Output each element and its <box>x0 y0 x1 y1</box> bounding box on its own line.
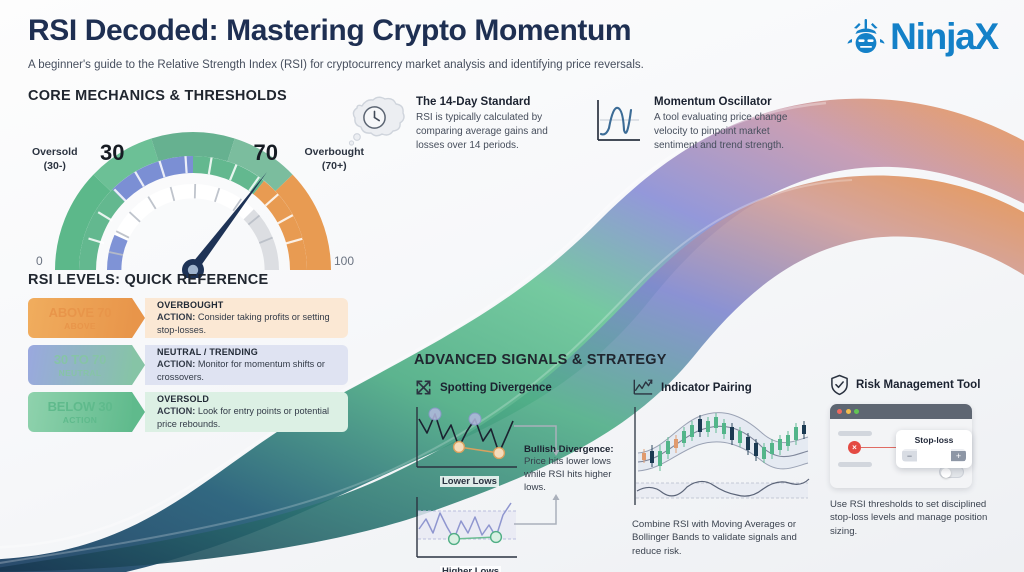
core-mechanics-section: CORE MECHANICS & THRESHOLDS <box>28 88 358 278</box>
error-circle-x-icon: × <box>848 441 861 454</box>
stop-loss-label: Stop-loss <box>902 435 966 445</box>
stop-loss-mockup: × Stop-loss − + <box>830 404 972 488</box>
indicator-pairing-title: Indicator Pairing <box>661 382 752 394</box>
page-title: RSI Decoded: Mastering Crypto Momentum <box>28 14 788 49</box>
bullish-divergence-callout: Bullish Divergence: Price hits lower low… <box>524 444 616 495</box>
lower-lows-chart <box>414 405 519 471</box>
rsi-levels-heading: RSI LEVELS: QUICK REFERENCE <box>28 272 348 288</box>
rsi-level-range: ABOVE 70 <box>49 305 112 320</box>
rsi-level-tag: ABOVE 70 ABOVE <box>28 298 132 338</box>
gauge-scale-min: 0 <box>36 254 43 268</box>
risk-management-column: Risk Management Tool × Stop-loss <box>830 374 1010 538</box>
infographic-canvas: RSI Decoded: Mastering Crypto Momentum A… <box>0 0 1024 572</box>
page-subtitle: A beginner's guide to the Relative Stren… <box>28 58 788 74</box>
higher-lows-label: Higher Lows <box>440 566 501 572</box>
thought-bubble-clock-icon <box>344 96 406 152</box>
rsi-levels-section: RSI LEVELS: QUICK REFERENCE ABOVE 70 ABO… <box>28 272 348 432</box>
rsi-level-body: OVERSOLD ACTION: Look for entry points o… <box>145 392 348 432</box>
oscillator-wave-chart-icon <box>592 96 644 148</box>
info-card-14-day: The 14-Day Standard RSI is typically cal… <box>344 96 576 154</box>
rsi-level-state: OVERBOUGHT <box>157 300 340 310</box>
rsi-level-tag: BELOW 30 ACTION <box>28 392 132 432</box>
rsi-level-action: ACTION: Look for entry points or potenti… <box>157 405 340 429</box>
callout-title: Bullish Divergence: <box>524 444 616 455</box>
info-card-body: RSI is typically calculated by comparing… <box>416 111 576 154</box>
ninja-helmet-icon <box>846 17 886 57</box>
gauge-right-value: 70 <box>254 140 278 166</box>
info-card-title: Momentum Oscillator <box>654 96 814 108</box>
rsi-level-state: NEUTRAL / TRENDING <box>157 347 340 357</box>
mock-toggle-knob <box>941 468 951 478</box>
rsi-level-state: OVERSOLD <box>157 394 340 404</box>
stepper-minus-button[interactable]: − <box>902 451 917 461</box>
expand-arrows-icon <box>414 378 433 397</box>
stop-loss-stepper[interactable]: − + <box>902 449 966 462</box>
line-chart-up-icon <box>632 378 654 397</box>
indicator-pairing-note: Combine RSI with Moving Averages or Boll… <box>632 518 818 558</box>
stepper-plus-button[interactable]: + <box>951 451 966 461</box>
shield-check-icon <box>830 374 849 396</box>
rsi-level-tag-sub: ACTION <box>63 415 97 425</box>
window-dot-maximize[interactable] <box>854 409 859 414</box>
core-mechanics-heading: CORE MECHANICS & THRESHOLDS <box>28 88 358 104</box>
rsi-level-range: BELOW 30 <box>48 399 113 414</box>
rsi-level-tag-sub: ABOVE <box>64 321 96 331</box>
risk-management-note: Use RSI thresholds to set disciplined st… <box>830 498 1010 538</box>
stepper-track[interactable] <box>917 449 951 462</box>
indicator-pairing-column: Indicator Pairing <box>632 378 818 558</box>
rsi-level-action: ACTION: Monitor for momentum shifts or c… <box>157 358 340 382</box>
candlestick-bollinger-chart <box>632 405 810 510</box>
mock-placeholder-bar <box>838 462 872 467</box>
mock-titlebar <box>830 404 972 419</box>
rsi-level-row[interactable]: ABOVE 70 ABOVE OVERBOUGHT ACTION: Consid… <box>28 298 348 338</box>
header: RSI Decoded: Mastering Crypto Momentum A… <box>28 14 788 73</box>
gauge-svg <box>28 118 358 278</box>
info-card-oscillator: Momentum Oscillator A tool evaluating pr… <box>592 96 814 154</box>
window-dot-minimize[interactable] <box>846 409 851 414</box>
rsi-level-range: 30 TO 70 <box>54 352 106 367</box>
mock-placeholder-bar <box>838 431 872 436</box>
info-card-title: The 14-Day Standard <box>416 96 576 108</box>
rsi-level-tag: 30 TO 70 NEUTRAL <box>28 345 132 385</box>
rsi-level-row[interactable]: 30 TO 70 NEUTRAL NEUTRAL / TRENDING ACTI… <box>28 345 348 385</box>
stop-loss-popup: Stop-loss − + <box>896 430 972 468</box>
rsi-level-action: ACTION: Consider taking profits or setti… <box>157 311 340 335</box>
brand-logo[interactable]: NinjaX <box>846 16 998 58</box>
window-dot-close[interactable] <box>837 409 842 414</box>
rsi-level-tag-sub: NEUTRAL <box>59 368 102 378</box>
rsi-level-row[interactable]: BELOW 30 ACTION OVERSOLD ACTION: Look fo… <box>28 392 348 432</box>
rsi-level-body: OVERBOUGHT ACTION: Consider taking profi… <box>145 298 348 338</box>
gauge-scale-max: 100 <box>334 254 354 268</box>
gauge-left-label: Oversold (30-) <box>32 146 78 173</box>
divergence-title: Spotting Divergence <box>440 382 552 394</box>
higher-lows-chart <box>414 495 519 561</box>
rsi-gauge: Oversold (30-) 30 70 Overbought (70+) 0 … <box>28 118 358 278</box>
gauge-left-value: 30 <box>100 140 124 166</box>
risk-management-title: Risk Management Tool <box>856 379 980 391</box>
rsi-level-body: NEUTRAL / TRENDING ACTION: Monitor for m… <box>145 345 348 385</box>
info-card-body: A tool evaluating price change velocity … <box>654 111 814 154</box>
lower-lows-label: Lower Lows <box>440 476 499 487</box>
callout-body: Price hits lower lows while RSI hits hig… <box>524 455 616 495</box>
logo-text: NinjaX <box>890 16 998 58</box>
advanced-signals-heading: ADVANCED SIGNALS & STRATEGY <box>414 352 667 368</box>
